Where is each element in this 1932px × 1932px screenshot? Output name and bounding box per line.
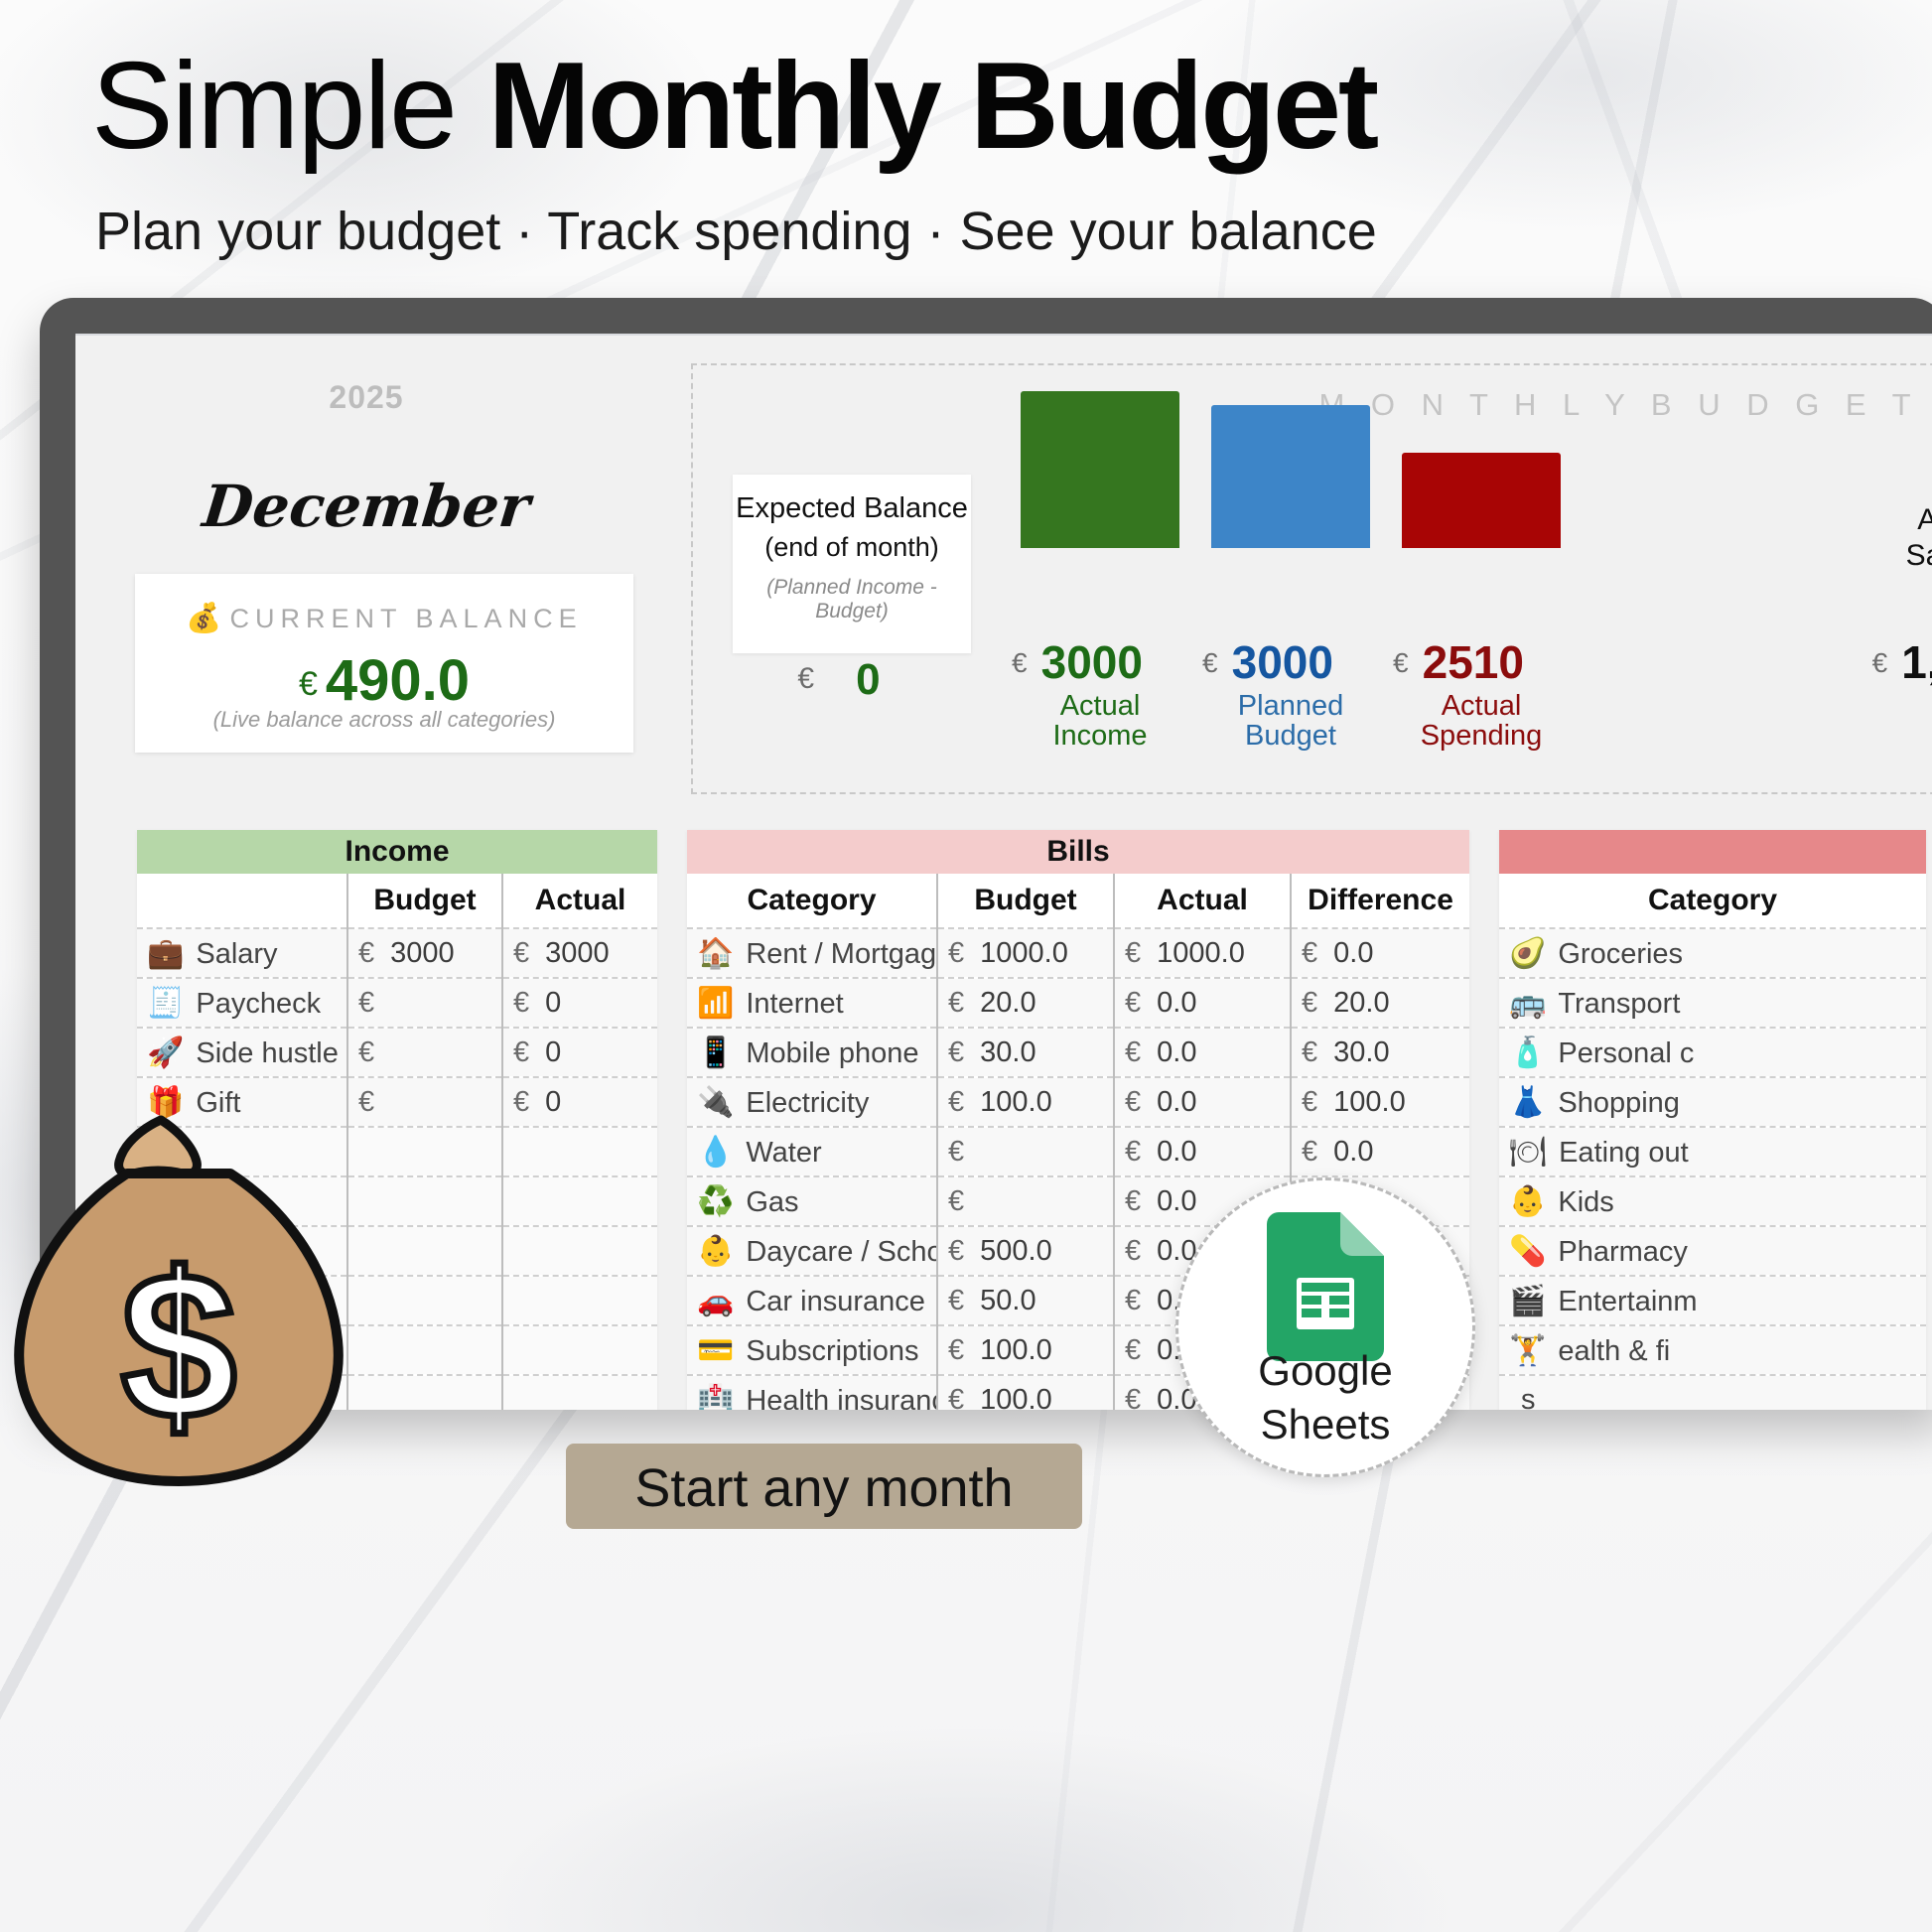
cell-amount: 0.0 bbox=[1157, 1086, 1196, 1118]
currency-symbol: € bbox=[513, 1086, 529, 1118]
table-row[interactable]: 👗Shopping bbox=[1499, 1077, 1926, 1127]
expected-balance-card: Expected Balance (end of month) (Planned… bbox=[733, 475, 971, 653]
cell-amount: 0.0 bbox=[1157, 1036, 1196, 1068]
currency-symbol: € bbox=[1125, 1086, 1141, 1118]
table-row[interactable]: 💧Water€€0.0€0.0 bbox=[687, 1127, 1469, 1176]
category-icon: 🧴 bbox=[1509, 1036, 1546, 1069]
cell-category[interactable]: 👶Daycare / School bbox=[687, 1226, 937, 1276]
kpi-label-actual-savings: ActualSavings bbox=[1855, 502, 1932, 574]
cell-amount: 20.0 bbox=[1333, 987, 1389, 1019]
cell-category[interactable]: 💊Pharmacy bbox=[1499, 1226, 1926, 1276]
category-icon: 🏋 bbox=[1509, 1334, 1546, 1367]
currency-symbol: € bbox=[1125, 1185, 1141, 1217]
kpi-label-actual-spending: ActualSpending bbox=[1392, 691, 1571, 752]
cell-budget[interactable]: €100.0 bbox=[937, 1325, 1114, 1375]
cell-budget[interactable] bbox=[347, 1127, 502, 1176]
kpi-label-line2: Savings bbox=[1906, 539, 1932, 572]
category-icon: 💧 bbox=[697, 1136, 734, 1169]
currency-symbol: € bbox=[1302, 937, 1317, 969]
kpi-value-planned-budget: €3000 bbox=[1166, 635, 1370, 689]
cell-budget[interactable]: € bbox=[347, 1077, 502, 1127]
kpi-label-line1: Actual bbox=[1060, 690, 1141, 722]
page-title: Simple Monthly Budget bbox=[91, 44, 1859, 169]
category-icon: 🚗 bbox=[697, 1285, 734, 1317]
currency-symbol: € bbox=[1125, 937, 1141, 969]
currency-symbol: € bbox=[513, 937, 529, 969]
category-icon: 👶 bbox=[1509, 1185, 1546, 1218]
currency-symbol: € bbox=[1125, 1136, 1141, 1168]
col-header-actual: Actual bbox=[502, 874, 657, 928]
table-row[interactable]: 🥑Groceries bbox=[1499, 928, 1926, 978]
cell-amount: 30.0 bbox=[1333, 1036, 1389, 1068]
cell-category[interactable]: 🥑Groceries bbox=[1499, 928, 1926, 978]
cell-budget[interactable]: €50.0 bbox=[937, 1276, 1114, 1325]
cell-budget[interactable]: € bbox=[347, 1028, 502, 1077]
cell-difference[interactable]: €20.0 bbox=[1291, 978, 1469, 1028]
spending-table[interactable]: Category🥑Groceries🚌Transport🧴Personal c👗… bbox=[1499, 830, 1926, 1410]
category-icon: 🍽 bbox=[1509, 1136, 1547, 1169]
cell-category[interactable]: 🎬Entertainm bbox=[1499, 1276, 1926, 1325]
col-header-budget: Budget bbox=[347, 874, 502, 928]
currency-symbol: € bbox=[1125, 1036, 1141, 1068]
page-title-bold: Monthly Budget bbox=[487, 38, 1376, 175]
kpi-label-line1: Actual bbox=[1442, 690, 1522, 722]
category-icon: 👗 bbox=[1509, 1086, 1546, 1119]
money-bag-icon: 💰 bbox=[186, 603, 221, 634]
year-label: 2025 bbox=[75, 379, 657, 416]
cell-budget[interactable]: € bbox=[937, 1127, 1114, 1176]
cell-budget[interactable]: € bbox=[347, 978, 502, 1028]
cell-budget[interactable]: €20.0 bbox=[937, 978, 1114, 1028]
col-header-difference: Difference bbox=[1291, 874, 1469, 928]
currency-symbol: € bbox=[1393, 647, 1409, 678]
table-row[interactable]: 💼Salary€3000€3000 bbox=[137, 928, 657, 978]
currency-symbol: € bbox=[948, 1285, 964, 1316]
cell-category[interactable]: 👶Kids bbox=[1499, 1176, 1926, 1226]
currency-symbol: € bbox=[948, 1384, 964, 1411]
currency-symbol: € bbox=[1202, 647, 1218, 678]
table-row[interactable]: 🍽Eating out bbox=[1499, 1127, 1926, 1176]
bar-planned-budget bbox=[1211, 405, 1370, 548]
table-group-header-row: Bills bbox=[687, 830, 1469, 874]
currency-symbol: € bbox=[358, 937, 374, 969]
currency-symbol: € bbox=[1125, 1235, 1141, 1267]
category-icon: 📱 bbox=[697, 1036, 734, 1069]
kpi-value-actual-savings: €1,000 bbox=[1825, 635, 1932, 689]
cell-amount: 3000 bbox=[545, 937, 610, 969]
kpi-panel: M O N T H L Y B U D G E T I N G Expected… bbox=[691, 363, 1932, 794]
cell-budget[interactable] bbox=[347, 1375, 502, 1410]
cell-amount: 0 bbox=[545, 987, 561, 1019]
current-balance-amount: 490.0 bbox=[326, 648, 470, 713]
currency-symbol: € bbox=[1125, 987, 1141, 1019]
currency-symbol: € bbox=[948, 1086, 964, 1118]
bills-group-header: Bills bbox=[687, 830, 1469, 874]
cell-amount: 100.0 bbox=[1333, 1086, 1406, 1118]
cell-budget[interactable]: €100.0 bbox=[937, 1375, 1114, 1410]
col-header-actual: Actual bbox=[1114, 874, 1291, 928]
cell-budget[interactable]: € bbox=[937, 1176, 1114, 1226]
cell-actual[interactable]: €3000 bbox=[502, 928, 657, 978]
cell-budget[interactable] bbox=[347, 1226, 502, 1276]
cell-actual[interactable]: €0.0 bbox=[1114, 1127, 1291, 1176]
table-row[interactable]: 🏠Rent / Mortgage€1000.0€1000.0€0.0 bbox=[687, 928, 1469, 978]
badge-line1: Google bbox=[1178, 1347, 1472, 1395]
cell-amount: 0.0 bbox=[1157, 1136, 1196, 1168]
cell-category[interactable]: 🚗Car insurance bbox=[687, 1276, 937, 1325]
cell-amount: 0.0 bbox=[1157, 987, 1196, 1019]
table-row[interactable]: 📶Internet€20.0€0.0€20.0 bbox=[687, 978, 1469, 1028]
category-icon: 💳 bbox=[697, 1334, 734, 1367]
cell-amount: 1000.0 bbox=[980, 937, 1068, 969]
spending-group-header bbox=[1499, 830, 1926, 874]
cell-actual[interactable]: €0.0 bbox=[1114, 1077, 1291, 1127]
cell-category[interactable]: 📱Mobile phone bbox=[687, 1028, 937, 1077]
google-sheets-icon bbox=[1267, 1212, 1384, 1361]
kpi-value-actual-spending: €2510 bbox=[1356, 635, 1561, 689]
table-header-row: BudgetActual bbox=[137, 874, 657, 928]
cell-difference[interactable]: €30.0 bbox=[1291, 1028, 1469, 1077]
expected-balance-amount: 0 bbox=[856, 655, 880, 704]
table-row[interactable]: 🔌Electricity€100.0€0.0€100.0 bbox=[687, 1077, 1469, 1127]
category-icon: 💼 bbox=[147, 937, 184, 970]
expected-balance-formula: (Planned Income - Budget) bbox=[733, 576, 971, 623]
table-row[interactable]: 🏋ealth & fi bbox=[1499, 1325, 1926, 1375]
svg-text:$: $ bbox=[121, 1229, 237, 1462]
currency-symbol: € bbox=[1872, 647, 1888, 678]
currency-symbol: € bbox=[358, 1086, 374, 1118]
cell-amount: 20.0 bbox=[980, 987, 1035, 1019]
cell-actual[interactable]: €0.0 bbox=[1114, 1028, 1291, 1077]
category-icon: 🚀 bbox=[147, 1036, 184, 1069]
category-icon: 🏥 bbox=[697, 1384, 734, 1411]
current-balance-label: 💰CURRENT BALANCE bbox=[135, 602, 633, 635]
category-icon: 🥑 bbox=[1509, 937, 1546, 970]
start-any-month-label: Start any month bbox=[566, 1457, 1082, 1519]
kpi-label-line2: Income bbox=[1052, 720, 1147, 752]
cell-difference[interactable]: €100.0 bbox=[1291, 1077, 1469, 1127]
cell-amount: 0 bbox=[545, 1036, 561, 1068]
currency-symbol: € bbox=[358, 1036, 374, 1068]
cell-actual[interactable] bbox=[502, 1176, 657, 1226]
cell-budget[interactable]: €30.0 bbox=[937, 1028, 1114, 1077]
cell-actual[interactable]: €0 bbox=[502, 978, 657, 1028]
income-group-header: Income bbox=[137, 830, 657, 874]
category-icon: 🏠 bbox=[697, 937, 734, 970]
currency-symbol: € bbox=[948, 1235, 964, 1267]
currency-symbol: € bbox=[1125, 1334, 1141, 1366]
cell-amount: 50.0 bbox=[980, 1285, 1035, 1316]
currency-symbol: € bbox=[513, 1036, 529, 1068]
spending-table-card: Category🥑Groceries🚌Transport🧴Personal c👗… bbox=[1499, 830, 1926, 1410]
month-label[interactable]: December bbox=[75, 473, 661, 540]
cell-actual[interactable]: €1000.0 bbox=[1114, 928, 1291, 978]
currency-symbol: € bbox=[948, 987, 964, 1019]
category-icon: 🧾 bbox=[147, 987, 184, 1020]
category-icon: 👶 bbox=[697, 1235, 734, 1268]
currency-symbol: € bbox=[948, 1185, 964, 1217]
cell-amount: 0.0 bbox=[1333, 1136, 1373, 1168]
cell-actual[interactable]: €0.0 bbox=[1114, 978, 1291, 1028]
cell-budget[interactable]: €1000.0 bbox=[937, 928, 1114, 978]
currency-symbol: € bbox=[948, 1036, 964, 1068]
cell-amount: 1000.0 bbox=[1157, 937, 1245, 969]
table-header-row: CategoryBudgetActualDifference bbox=[687, 874, 1469, 928]
cell-budget[interactable]: €100.0 bbox=[937, 1077, 1114, 1127]
cell-category[interactable]: 🏋ealth & fi bbox=[1499, 1325, 1926, 1375]
kpi-label-planned-budget: PlannedBudget bbox=[1201, 691, 1380, 752]
kpi-value-actual-income: €3000 bbox=[975, 635, 1179, 689]
table-row[interactable]: 🎬Entertainm bbox=[1499, 1276, 1926, 1325]
category-icon: 🚌 bbox=[1509, 987, 1546, 1020]
currency-symbol: € bbox=[513, 987, 529, 1019]
table-row[interactable]: 🚌Transport bbox=[1499, 978, 1926, 1028]
cell-budget[interactable]: €500.0 bbox=[937, 1226, 1114, 1276]
kpi-amount: 2510 bbox=[1423, 636, 1524, 688]
cell-actual[interactable] bbox=[502, 1226, 657, 1276]
cell-difference[interactable]: €0.0 bbox=[1291, 928, 1469, 978]
cell-category[interactable]: 🏠Rent / Mortgage bbox=[687, 928, 937, 978]
currency-symbol: € bbox=[1302, 1136, 1317, 1168]
table-row[interactable]: 🧴Personal c bbox=[1499, 1028, 1926, 1077]
cell-actual[interactable]: €0 bbox=[502, 1028, 657, 1077]
currency-symbol: € bbox=[1125, 1384, 1141, 1411]
cell-category[interactable]: 🍽Eating out bbox=[1499, 1127, 1926, 1176]
col-header-category: Category bbox=[687, 874, 937, 928]
bar-actual-spending bbox=[1402, 453, 1561, 548]
cell-actual[interactable]: €0 bbox=[502, 1077, 657, 1127]
kpi-label-actual-income: ActualIncome bbox=[1011, 691, 1189, 752]
page-title-light: Simple bbox=[91, 38, 487, 175]
page-subtitle: Plan your budget · Track spending · See … bbox=[95, 203, 1872, 261]
cell-amount: 3000 bbox=[390, 937, 455, 969]
cell-category[interactable]: 🚀Side hustle bbox=[137, 1028, 347, 1077]
expected-balance-title: Expected Balance bbox=[733, 492, 971, 525]
current-balance-card: 💰CURRENT BALANCE €490.0 (Live balance ac… bbox=[135, 574, 633, 753]
cell-category[interactable]: ♻️Gas bbox=[687, 1176, 937, 1226]
currency-symbol: € bbox=[948, 937, 964, 969]
badge-line2: Sheets bbox=[1178, 1401, 1472, 1449]
cell-amount: 100.0 bbox=[980, 1086, 1052, 1118]
kpi-actual-savings: ActualSavings €1,000 bbox=[1855, 365, 1932, 792]
cell-actual[interactable] bbox=[502, 1127, 657, 1176]
currency-symbol: € bbox=[1302, 1036, 1317, 1068]
currency-symbol: € bbox=[948, 1334, 964, 1366]
category-icon: ♻️ bbox=[697, 1185, 734, 1218]
table-row[interactable]: 🚀Side hustle€€0 bbox=[137, 1028, 657, 1077]
currency-symbol: € bbox=[1302, 1086, 1317, 1118]
cell-category[interactable]: 🚌Transport bbox=[1499, 978, 1926, 1028]
cell-amount: 500.0 bbox=[980, 1235, 1052, 1267]
col-header-budget: Budget bbox=[937, 874, 1114, 928]
cell-category[interactable]: 🧴Personal c bbox=[1499, 1028, 1926, 1077]
cell-category[interactable]: 💼Salary bbox=[137, 928, 347, 978]
cell-amount: 0.0 bbox=[1333, 937, 1373, 969]
cell-category[interactable]: 🏥Health insurance bbox=[687, 1375, 937, 1410]
spreadsheet-screen: 2025 December 💰CURRENT BALANCE €490.0 (L… bbox=[75, 334, 1932, 1410]
start-any-month-pill[interactable]: Start any month bbox=[566, 1444, 1082, 1529]
kpi-actual-spending: €2510 ActualSpending bbox=[1402, 365, 1561, 792]
currency-symbol: € bbox=[1012, 647, 1028, 678]
kpi-amount: 3000 bbox=[1041, 636, 1143, 688]
cell-amount: 100.0 bbox=[980, 1384, 1052, 1411]
table-group-header-row: Income bbox=[137, 830, 657, 874]
bar-actual-income bbox=[1021, 391, 1179, 548]
col-header-category: Category bbox=[1499, 874, 1926, 928]
money-bag-illustration: $ bbox=[10, 1102, 347, 1499]
cell-amount: 0 bbox=[545, 1086, 561, 1118]
col-header-blank bbox=[137, 874, 347, 928]
category-icon: 💊 bbox=[1509, 1235, 1546, 1268]
cell-category[interactable]: 👗Shopping bbox=[1499, 1077, 1926, 1127]
expected-balance-subtitle: (end of month) bbox=[733, 532, 971, 563]
kpi-label-line2: Spending bbox=[1421, 720, 1543, 752]
current-balance-value: €490.0 bbox=[135, 647, 633, 714]
kpi-label-line1: Planned bbox=[1238, 690, 1343, 722]
cell-amount: 30.0 bbox=[980, 1036, 1035, 1068]
cell-actual[interactable] bbox=[502, 1375, 657, 1410]
category-icon: 🎬 bbox=[1509, 1285, 1546, 1317]
expected-balance-value: €0 bbox=[707, 655, 971, 705]
category-icon: 📶 bbox=[697, 987, 734, 1020]
currency-symbol: € bbox=[1302, 987, 1317, 1019]
cell-category[interactable]: 🔌Electricity bbox=[687, 1077, 937, 1127]
google-sheets-badge: Google Sheets bbox=[1175, 1177, 1475, 1477]
cell-actual[interactable] bbox=[502, 1325, 657, 1375]
cell-category[interactable]: 📶Internet bbox=[687, 978, 937, 1028]
cell-amount: 0.0 bbox=[1157, 1185, 1196, 1217]
current-balance-note: (Live balance across all categories) bbox=[135, 707, 633, 733]
kpi-amount: 3000 bbox=[1232, 636, 1333, 688]
table-group-header-row bbox=[1499, 830, 1926, 874]
cell-budget[interactable]: €3000 bbox=[347, 928, 502, 978]
kpi-label-line2: Budget bbox=[1245, 720, 1336, 752]
cell-category[interactable]: 💳Subscriptions bbox=[687, 1325, 937, 1375]
currency-symbol: € bbox=[1125, 1285, 1141, 1316]
table-row[interactable]: s bbox=[1499, 1375, 1926, 1410]
kpi-amount: 1,000 bbox=[1901, 636, 1932, 688]
category-icon: 🔌 bbox=[697, 1086, 734, 1119]
cell-budget[interactable] bbox=[347, 1276, 502, 1325]
currency-symbol: € bbox=[797, 662, 814, 695]
currency-symbol: € bbox=[948, 1136, 964, 1168]
table-row[interactable]: 💊Pharmacy bbox=[1499, 1226, 1926, 1276]
kpi-planned-budget: €3000 PlannedBudget bbox=[1211, 365, 1370, 792]
current-balance-text: CURRENT BALANCE bbox=[230, 604, 583, 633]
cell-difference[interactable]: €0.0 bbox=[1291, 1127, 1469, 1176]
currency-symbol: € bbox=[299, 665, 318, 703]
cell-budget[interactable] bbox=[347, 1176, 502, 1226]
kpi-actual-income: €3000 ActualIncome bbox=[1021, 365, 1179, 792]
tables-area: IncomeBudgetActual💼Salary€3000€3000🧾Payc… bbox=[75, 830, 1932, 1410]
table-row[interactable]: 🧾Paycheck€€0 bbox=[137, 978, 657, 1028]
cell-category[interactable]: 💧Water bbox=[687, 1127, 937, 1176]
table-row[interactable]: 📱Mobile phone€30.0€0.0€30.0 bbox=[687, 1028, 1469, 1077]
cell-budget[interactable] bbox=[347, 1325, 502, 1375]
cell-amount: 100.0 bbox=[980, 1334, 1052, 1366]
cell-category[interactable]: s bbox=[1499, 1375, 1926, 1410]
cell-category[interactable]: 🧾Paycheck bbox=[137, 978, 347, 1028]
table-header-row: Category bbox=[1499, 874, 1926, 928]
cell-actual[interactable] bbox=[502, 1276, 657, 1325]
kpi-label-line1: Actual bbox=[1917, 503, 1932, 536]
currency-symbol: € bbox=[358, 987, 374, 1019]
table-row[interactable]: 👶Kids bbox=[1499, 1176, 1926, 1226]
